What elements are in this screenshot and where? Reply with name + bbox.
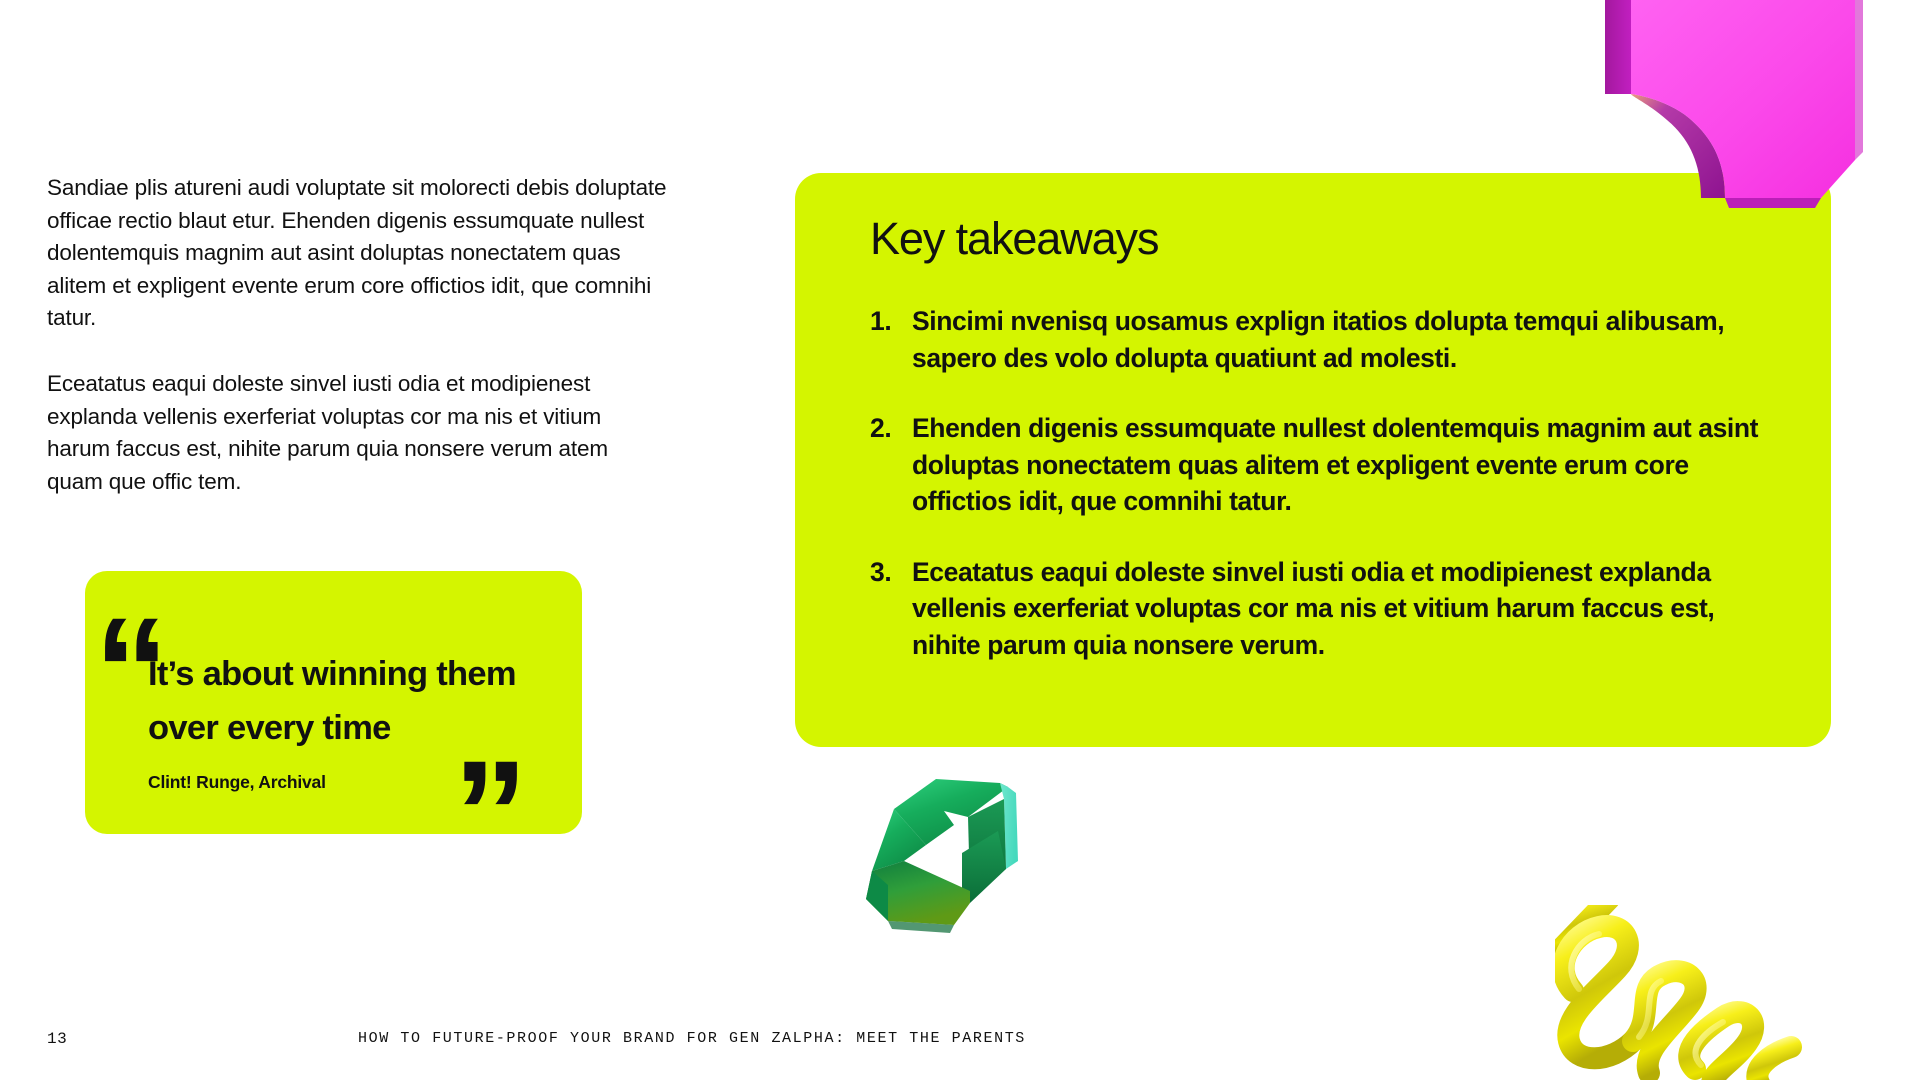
list-item-text: Eceatatus eaqui doleste sinvel iusti odi… — [912, 554, 1776, 664]
key-takeaways-title: Key takeaways — [870, 213, 1158, 265]
page-number: 13 — [47, 1030, 67, 1048]
list-item: 2. Ehenden digenis essumquate nullest do… — [870, 410, 1776, 520]
opening-quote-mark-icon: “ — [94, 614, 161, 727]
slide-footer: 13 HOW TO FUTURE-PROOF YOUR BRAND FOR GE… — [0, 1010, 1919, 1080]
key-takeaways-list: 1. Sincimi nvenisq uosamus explign itati… — [870, 303, 1776, 663]
footer-deck-title: HOW TO FUTURE-PROOF YOUR BRAND FOR GEN Z… — [358, 1030, 1026, 1047]
quote-block: “ It’s about winning them over every tim… — [48, 562, 568, 842]
body-paragraph-2: Eceatatus eaqui doleste sinvel iusti odi… — [47, 368, 667, 498]
list-item-text: Ehenden digenis essumquate nullest dolen… — [912, 410, 1776, 520]
list-item-text: Sincimi nvenisq uosamus explign itatios … — [912, 303, 1776, 376]
green-3d-arrow-icon — [858, 765, 1048, 945]
list-item: 1. Sincimi nvenisq uosamus explign itati… — [870, 303, 1776, 376]
list-item-number: 2. — [870, 410, 912, 447]
slide-canvas: Sandiae plis atureni audi voluptate sit … — [0, 0, 1919, 1080]
quote-attribution: Clint! Runge, Archival — [148, 772, 326, 793]
key-takeaways-card: Key takeaways 1. Sincimi nvenisq uosamus… — [795, 173, 1831, 747]
list-item-number: 3. — [870, 554, 912, 591]
left-text-column: Sandiae plis atureni audi voluptate sit … — [47, 172, 687, 498]
list-item: 3. Eceatatus eaqui doleste sinvel iusti … — [870, 554, 1776, 664]
list-item-number: 1. — [870, 303, 912, 340]
closing-quote-mark-icon: ” — [453, 757, 520, 870]
body-paragraph-1: Sandiae plis atureni audi voluptate sit … — [47, 172, 667, 335]
